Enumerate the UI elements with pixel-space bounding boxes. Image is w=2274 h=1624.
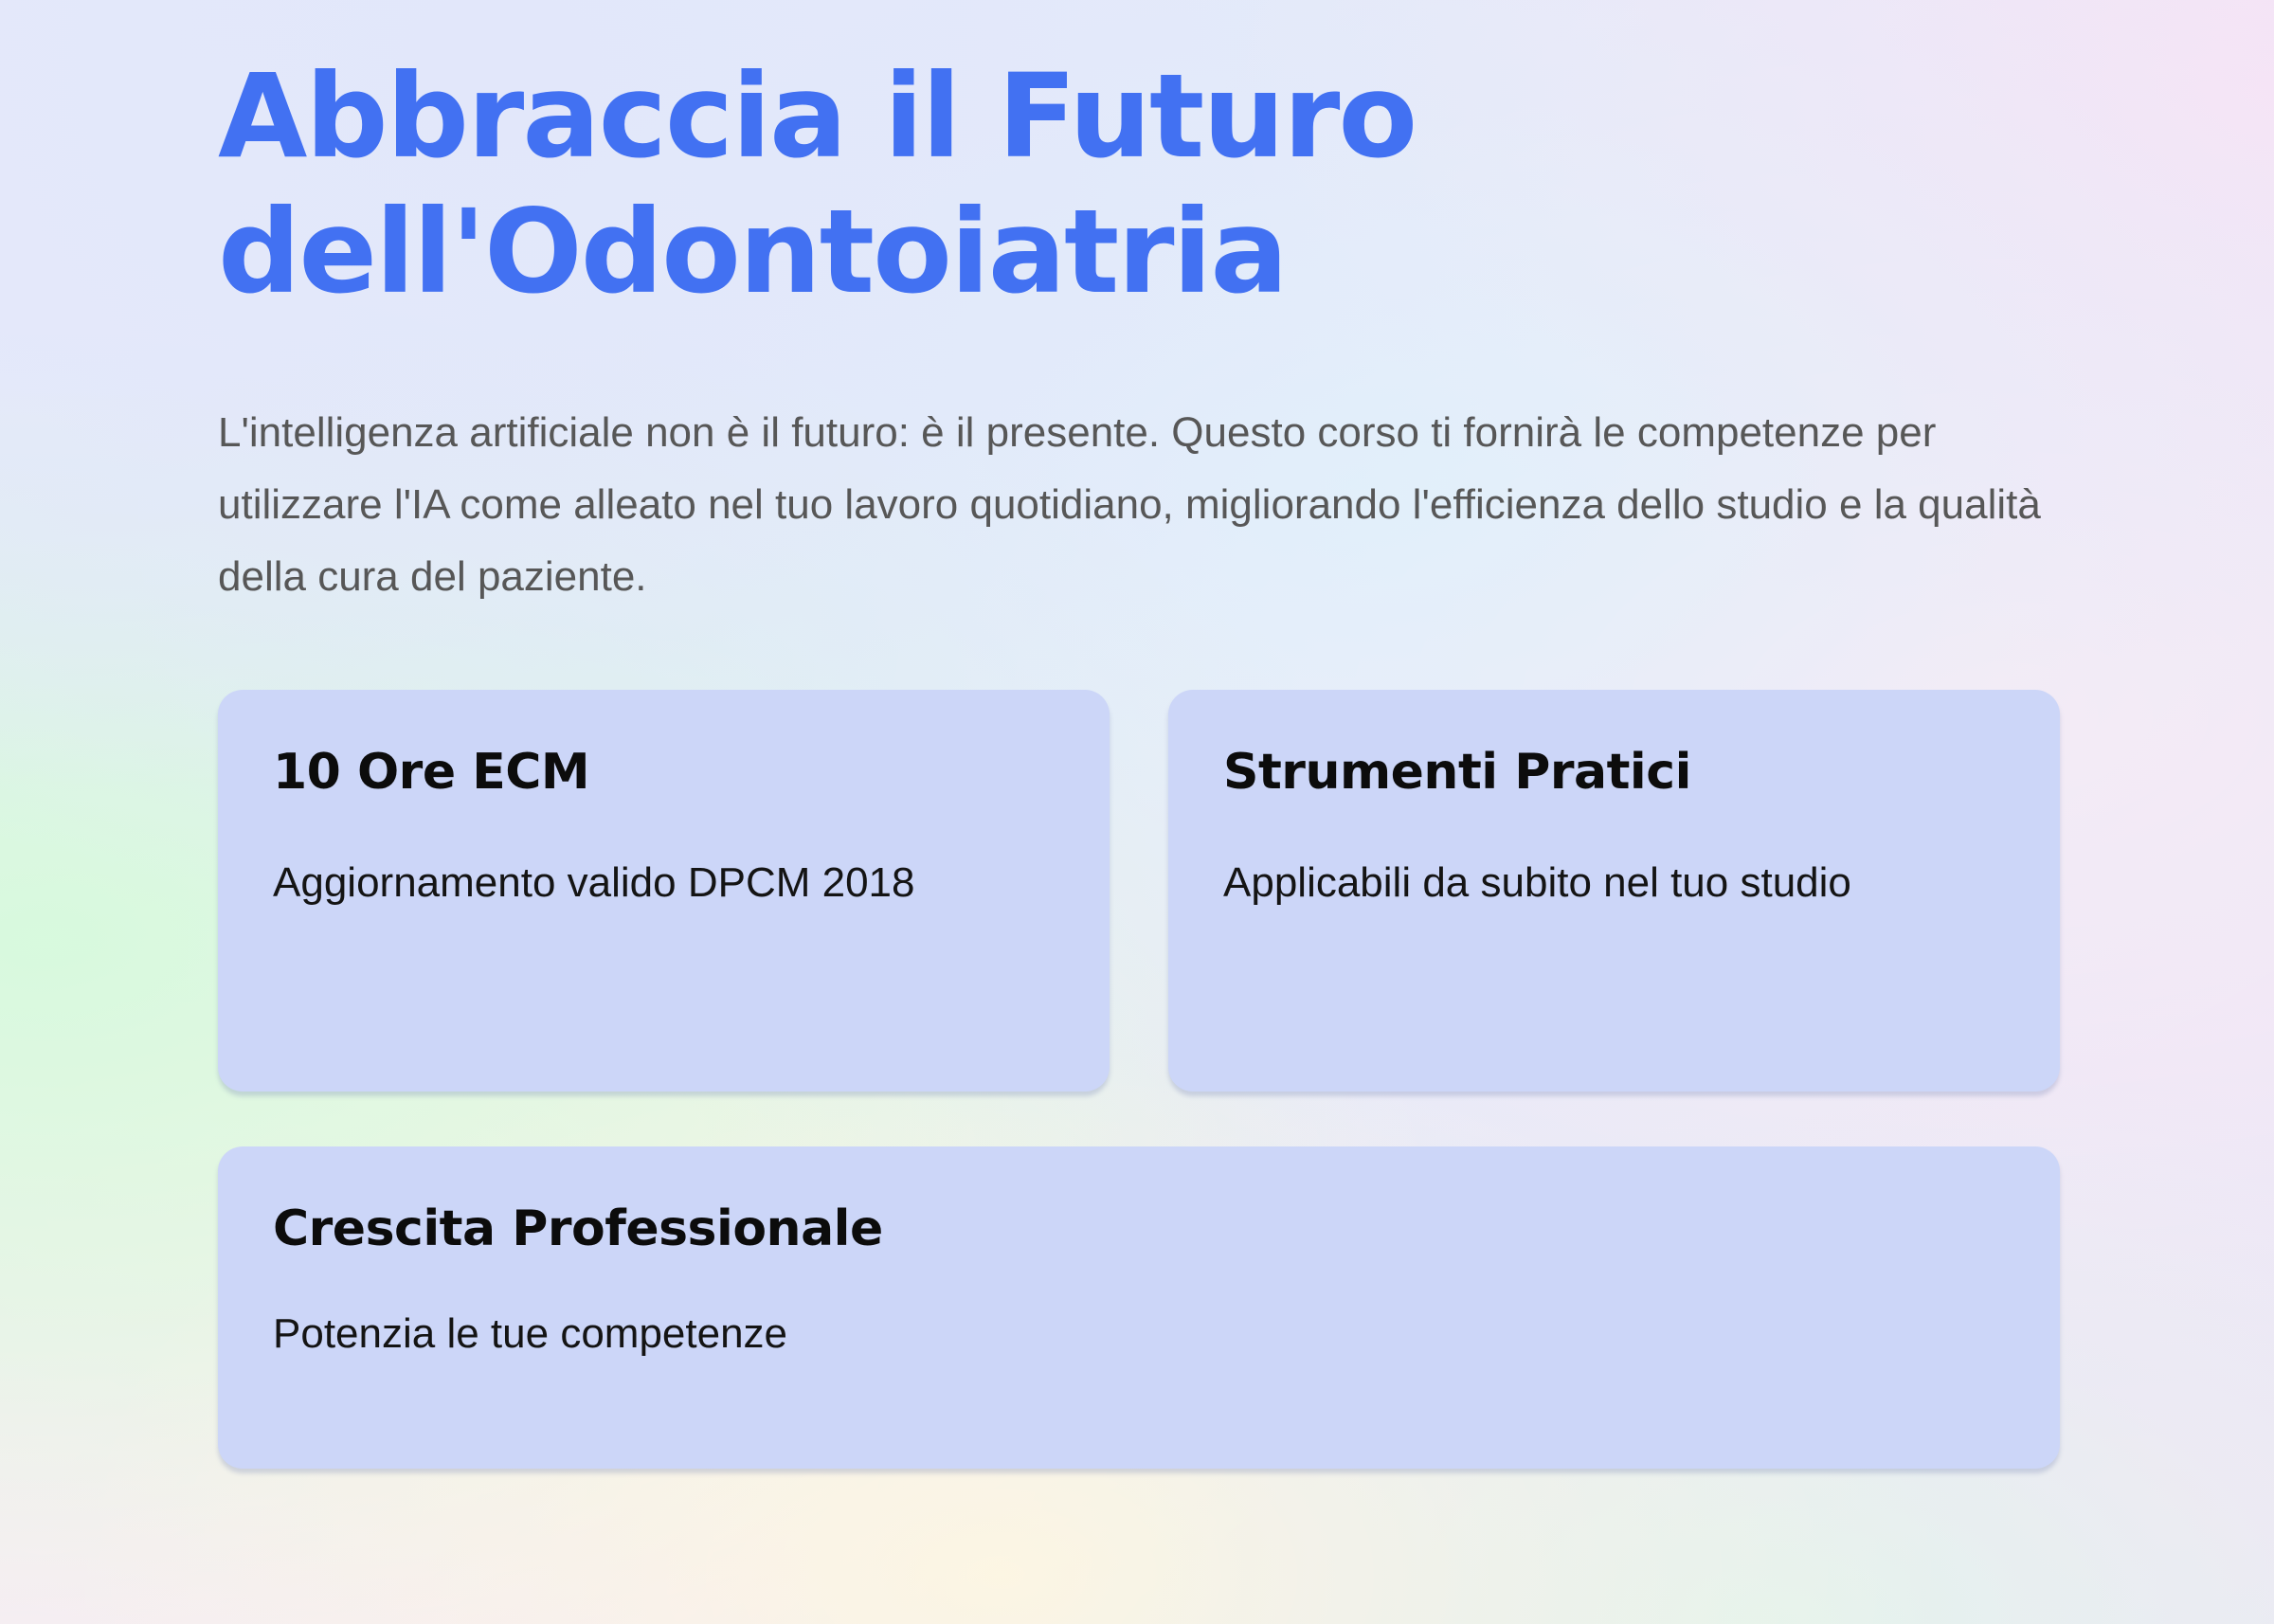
feature-card-description: Aggiornamento valido DPCM 2018 xyxy=(273,848,1031,918)
page-title: Abbraccia il Futuro dell'Odontoiatria xyxy=(218,0,1658,319)
feature-card-ecm[interactable]: 10 Ore ECM Aggiornamento valido DPCM 201… xyxy=(218,690,1110,1092)
feature-card-description: Applicabili da subito nel tuo studio xyxy=(1223,848,1981,918)
feature-card-crescita[interactable]: Crescita Professionale Potenzia le tue c… xyxy=(218,1146,2060,1469)
page-title-line-2: dell'Odontoiatria xyxy=(218,185,1287,319)
feature-card-title: Crescita Professionale xyxy=(273,1200,2005,1258)
feature-card-grid: 10 Ore ECM Aggiornamento valido DPCM 201… xyxy=(218,690,2060,1469)
feature-card-title: 10 Ore ECM xyxy=(273,743,1055,802)
hero-section: Abbraccia il Futuro dell'Odontoiatria L'… xyxy=(0,0,2274,1624)
feature-card-strumenti[interactable]: Strumenti Pratici Applicabili da subito … xyxy=(1168,690,2060,1092)
feature-card-title: Strumenti Pratici xyxy=(1223,743,2005,802)
page-title-line-1: Abbraccia il Futuro xyxy=(218,49,1416,184)
feature-card-description: Potenzia le tue competenze xyxy=(273,1299,1884,1369)
hero-description: L'intelligenza artificiale non è il futu… xyxy=(218,397,2056,612)
